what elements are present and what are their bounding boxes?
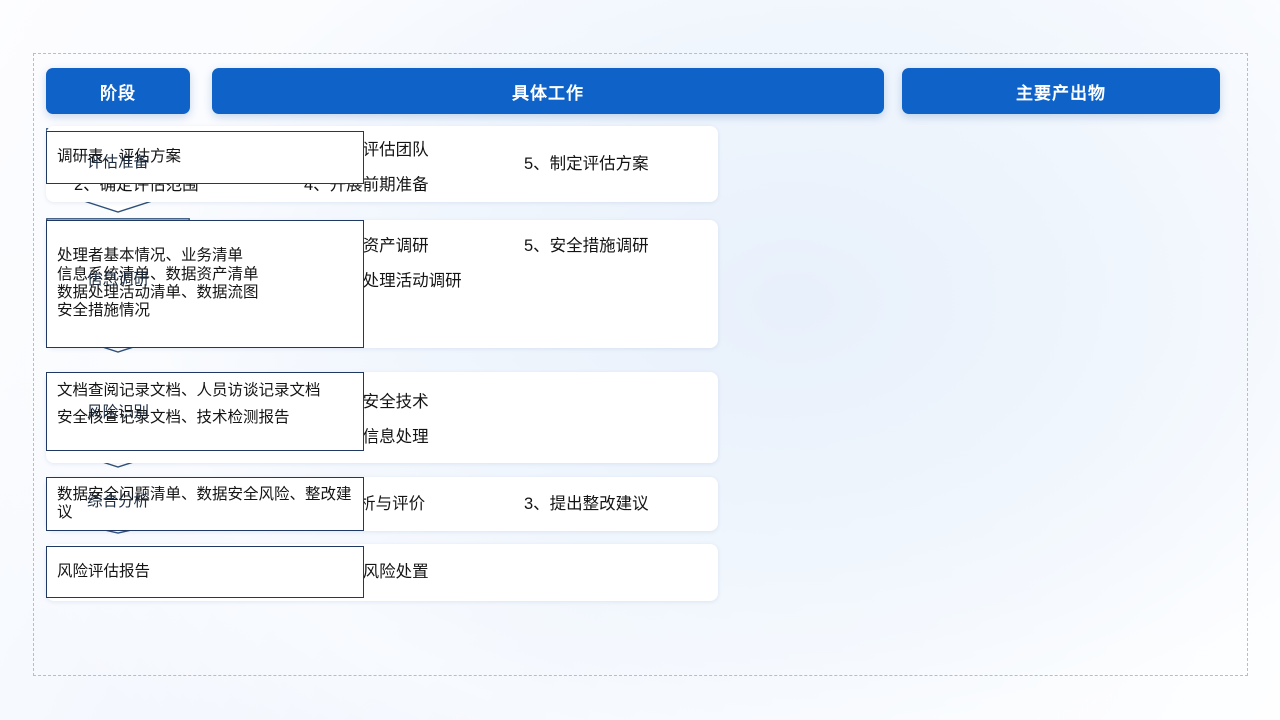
output-column-header: 主要产出物 — [902, 68, 1220, 114]
work-col-1-3: 5、制定评估方案 — [524, 126, 649, 202]
stage-label-3: 风险识别 — [46, 400, 190, 422]
work-col-2-3: 5、安全措施调研 — [524, 220, 649, 348]
stage-label-4: 综合分析 — [46, 489, 190, 511]
work-item: 5、制定评估方案 — [524, 156, 649, 173]
output-line: 文档查阅记录文档、人员访谈记录文档 — [57, 382, 353, 401]
stage-label-1: 评估准备 — [46, 150, 190, 172]
work-col-4-3: 3、提出整改建议 — [524, 477, 649, 531]
work-item: 5、安全措施调研 — [524, 238, 649, 255]
output-line: 风险评估报告 — [57, 563, 353, 582]
header-stage: 阶段 — [46, 68, 190, 114]
stage-label-2: 信息调研 — [46, 267, 190, 289]
output-card-5: 风险评估报告 — [46, 546, 364, 598]
output-line: 安全措施情况 — [57, 302, 353, 320]
work-column-header: 具体工作 — [212, 68, 884, 114]
stage-column-header: 阶段 — [46, 68, 190, 114]
process-diagram-board: 阶段 具体工作 主要产出物 评估准备 1、确定评估目标 2、确定评估范围 3、组… — [46, 68, 1220, 604]
header-work: 具体工作 — [212, 68, 884, 114]
output-line: 处理者基本情况、业务清单 — [57, 247, 353, 265]
header-output: 主要产出物 — [902, 68, 1220, 114]
work-item: 3、提出整改建议 — [524, 496, 649, 513]
